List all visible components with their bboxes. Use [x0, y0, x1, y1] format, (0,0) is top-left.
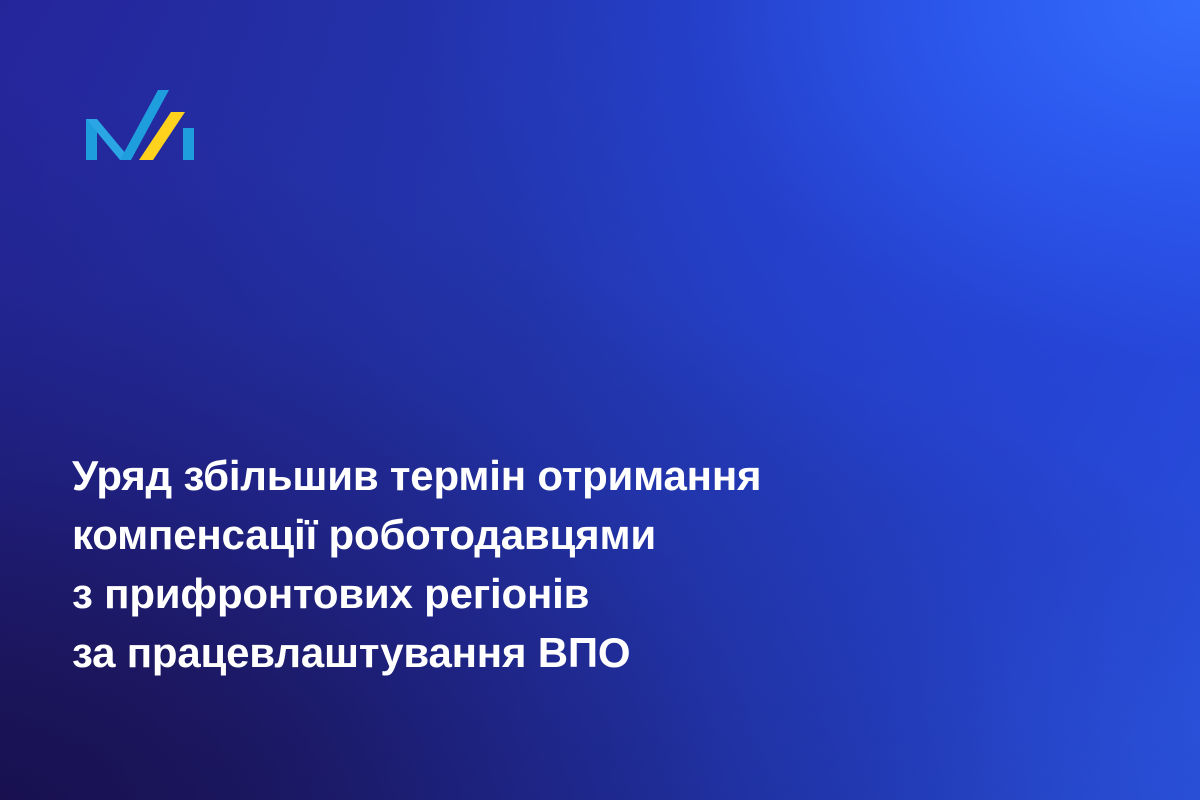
social-card: Уряд збільшив термін отримання компенсац… [0, 0, 1200, 800]
logo-right-stem [183, 128, 194, 160]
headline-line-3: з прифронтових регіонів [72, 564, 1032, 623]
logo-tall-diagonal [120, 90, 169, 160]
logo-m-icon [86, 90, 194, 160]
headline: Уряд збільшив термін отримання компенсац… [72, 446, 1032, 682]
headline-line-4: за працевлаштування ВПО [72, 623, 1032, 682]
brand-logo[interactable] [86, 90, 194, 160]
headline-line-1: Уряд збільшив термін отримання [72, 446, 1032, 505]
headline-line-2: компенсації роботодавцями [72, 505, 1032, 564]
